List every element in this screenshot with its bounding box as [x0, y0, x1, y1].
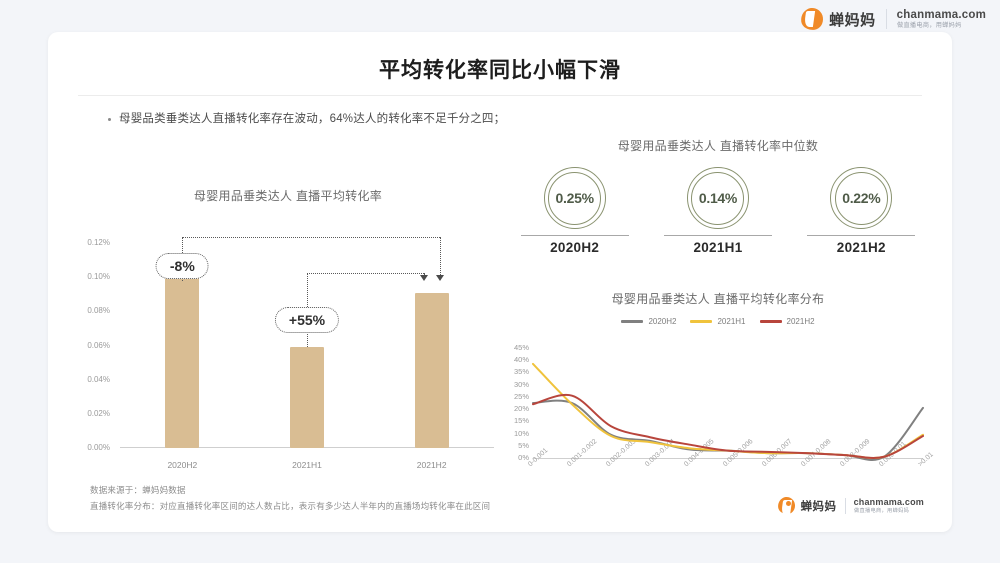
bar-y-tick-label: 0.04%	[70, 375, 110, 384]
legend-label: 2020H2	[648, 317, 676, 326]
brand-name-cn: 蝉妈妈	[829, 9, 876, 30]
bar-column	[415, 293, 449, 448]
brand-domain: chanmama.com	[854, 497, 924, 507]
bar-y-tick-label: 0.00%	[70, 443, 110, 452]
median-underline	[807, 235, 915, 236]
median-ring-inner: 0.22%	[835, 172, 888, 225]
bar-chart-plot: 0.00%0.02%0.04%0.06%0.08%0.10%0.12%2020H…	[68, 229, 508, 474]
brand-mark-top: 蝉妈妈	[801, 8, 876, 30]
line-chart-legend: 2020H22021H12021H2	[503, 317, 933, 326]
annotation-arrow-icon	[436, 275, 444, 281]
brand-bar-top: 蝉妈妈 chanmama.com 做直播电商，用蝉妈妈	[801, 8, 986, 30]
bar-x-tick-label: 2020H2	[137, 460, 227, 470]
legend-swatch-icon	[621, 320, 643, 323]
bar-y-tick-label: 0.10%	[70, 272, 110, 281]
annotation-connector	[440, 237, 441, 275]
brand-latin-top: chanmama.com 做直播电商，用蝉妈妈	[897, 9, 986, 30]
brand-bar-footer: 蝉妈妈 chanmama.com 做直播电商，用蝉妈妈	[778, 497, 924, 514]
median-ring-outer: 0.14%	[687, 167, 749, 229]
title-divider	[78, 95, 922, 96]
line-chart-title: 母婴用品垂类达人 直播平均转化率分布	[503, 290, 933, 307]
brand-mark-footer: 蝉妈妈	[778, 497, 837, 514]
annotation-connector	[182, 237, 439, 238]
line-chart-svg	[503, 344, 933, 474]
bar-y-tick-label: 0.08%	[70, 306, 110, 315]
median-circles-panel: 母婴用品垂类达人 直播转化率中位数 0.25%2020H20.14%2021H1…	[503, 137, 933, 267]
median-underline	[664, 235, 772, 236]
legend-item[interactable]: 2021H2	[760, 317, 815, 326]
legend-item[interactable]: 2021H1	[690, 317, 745, 326]
bullet-dot-icon	[108, 118, 111, 121]
median-circle-item: 0.25%2020H2	[515, 167, 635, 255]
median-period-label: 2021H2	[837, 240, 886, 255]
median-ring-outer: 0.22%	[830, 167, 892, 229]
bullet-row: 母婴品类垂类达人直播转化率存在波动，64%达人的转化率不足千分之四；	[108, 110, 505, 126]
bar-y-tick-label: 0.06%	[70, 341, 110, 350]
median-value: 0.22%	[842, 190, 880, 206]
legend-label: 2021H1	[717, 317, 745, 326]
page-title-wrap: 平均转化率同比小幅下滑	[48, 54, 952, 90]
footer-note: 直播转化率分布：对应直播转化率区间的达人数占比，表示有多少达人半年内的直播场均转…	[90, 498, 490, 514]
annotation-callout-minus8: -8%	[156, 253, 209, 279]
line-chart-plot: 0%5%10%15%20%25%30%35%40%45%0-0.0010.001…	[503, 344, 933, 474]
median-underline	[521, 235, 629, 236]
median-period-label: 2020H2	[550, 240, 599, 255]
line-chart-panel: 母婴用品垂类达人 直播平均转化率分布 2020H22021H12021H2 0%…	[503, 290, 933, 525]
annotation-arrow-icon	[420, 275, 428, 281]
bar-x-tick-label: 2021H2	[387, 460, 477, 470]
legend-label: 2021H2	[787, 317, 815, 326]
bar-x-tick-label: 2021H1	[262, 460, 352, 470]
legend-swatch-icon	[690, 320, 712, 323]
slide-card: 平均转化率同比小幅下滑 母婴品类垂类达人直播转化率存在波动，64%达人的转化率不…	[48, 32, 952, 532]
median-circles-title: 母婴用品垂类达人 直播转化率中位数	[503, 137, 933, 154]
median-circles-row: 0.25%2020H20.14%2021H10.22%2021H2	[503, 167, 933, 255]
bar-chart-title: 母婴用品垂类达人 直播平均转化率	[68, 187, 508, 204]
cicada-logo-icon	[801, 8, 823, 30]
median-ring-inner: 0.14%	[691, 172, 744, 225]
bar-column	[290, 347, 324, 448]
median-value: 0.14%	[699, 190, 737, 206]
bar-y-tick-label: 0.02%	[70, 409, 110, 418]
legend-item[interactable]: 2020H2	[621, 317, 676, 326]
median-value: 0.25%	[556, 190, 594, 206]
slide-root: 蝉妈妈 chanmama.com 做直播电商，用蝉妈妈 平均转化率同比小幅下滑 …	[0, 0, 1000, 563]
brand-latin-footer: chanmama.com 做直播电商，用蝉妈妈	[854, 497, 924, 514]
median-circle-item: 0.14%2021H1	[658, 167, 778, 255]
median-period-label: 2021H1	[693, 240, 742, 255]
bullet-text: 母婴品类垂类达人直播转化率存在波动，64%达人的转化率不足千分之四；	[119, 110, 505, 126]
annotation-connector	[182, 237, 183, 253]
footer-source: 数据来源于：蝉妈妈数据	[90, 482, 490, 498]
brand-divider	[845, 498, 846, 514]
brand-tagline: 做直播电商，用蝉妈妈	[897, 22, 982, 29]
annotation-connector	[307, 273, 424, 274]
cicada-logo-icon	[778, 497, 795, 514]
bar-chart-panel: 母婴用品垂类达人 直播平均转化率 0.00%0.02%0.04%0.06%0.0…	[68, 187, 508, 507]
brand-tagline: 做直播电商，用蝉妈妈	[854, 508, 921, 514]
legend-swatch-icon	[760, 320, 782, 323]
bar-column	[165, 278, 199, 448]
page-title: 平均转化率同比小幅下滑	[379, 54, 621, 90]
brand-domain: chanmama.com	[897, 9, 986, 22]
annotation-callout-plus55: +55%	[275, 307, 339, 333]
median-ring-outer: 0.25%	[544, 167, 606, 229]
median-ring-inner: 0.25%	[548, 172, 601, 225]
bar-y-tick-label: 0.12%	[70, 238, 110, 247]
footer-notes: 数据来源于：蝉妈妈数据 直播转化率分布：对应直播转化率区间的达人数占比，表示有多…	[90, 482, 490, 514]
line-series-2021H2	[533, 395, 923, 458]
brand-name-cn: 蝉妈妈	[801, 498, 837, 514]
median-circle-item: 0.22%2021H2	[801, 167, 921, 255]
brand-divider	[886, 9, 887, 29]
